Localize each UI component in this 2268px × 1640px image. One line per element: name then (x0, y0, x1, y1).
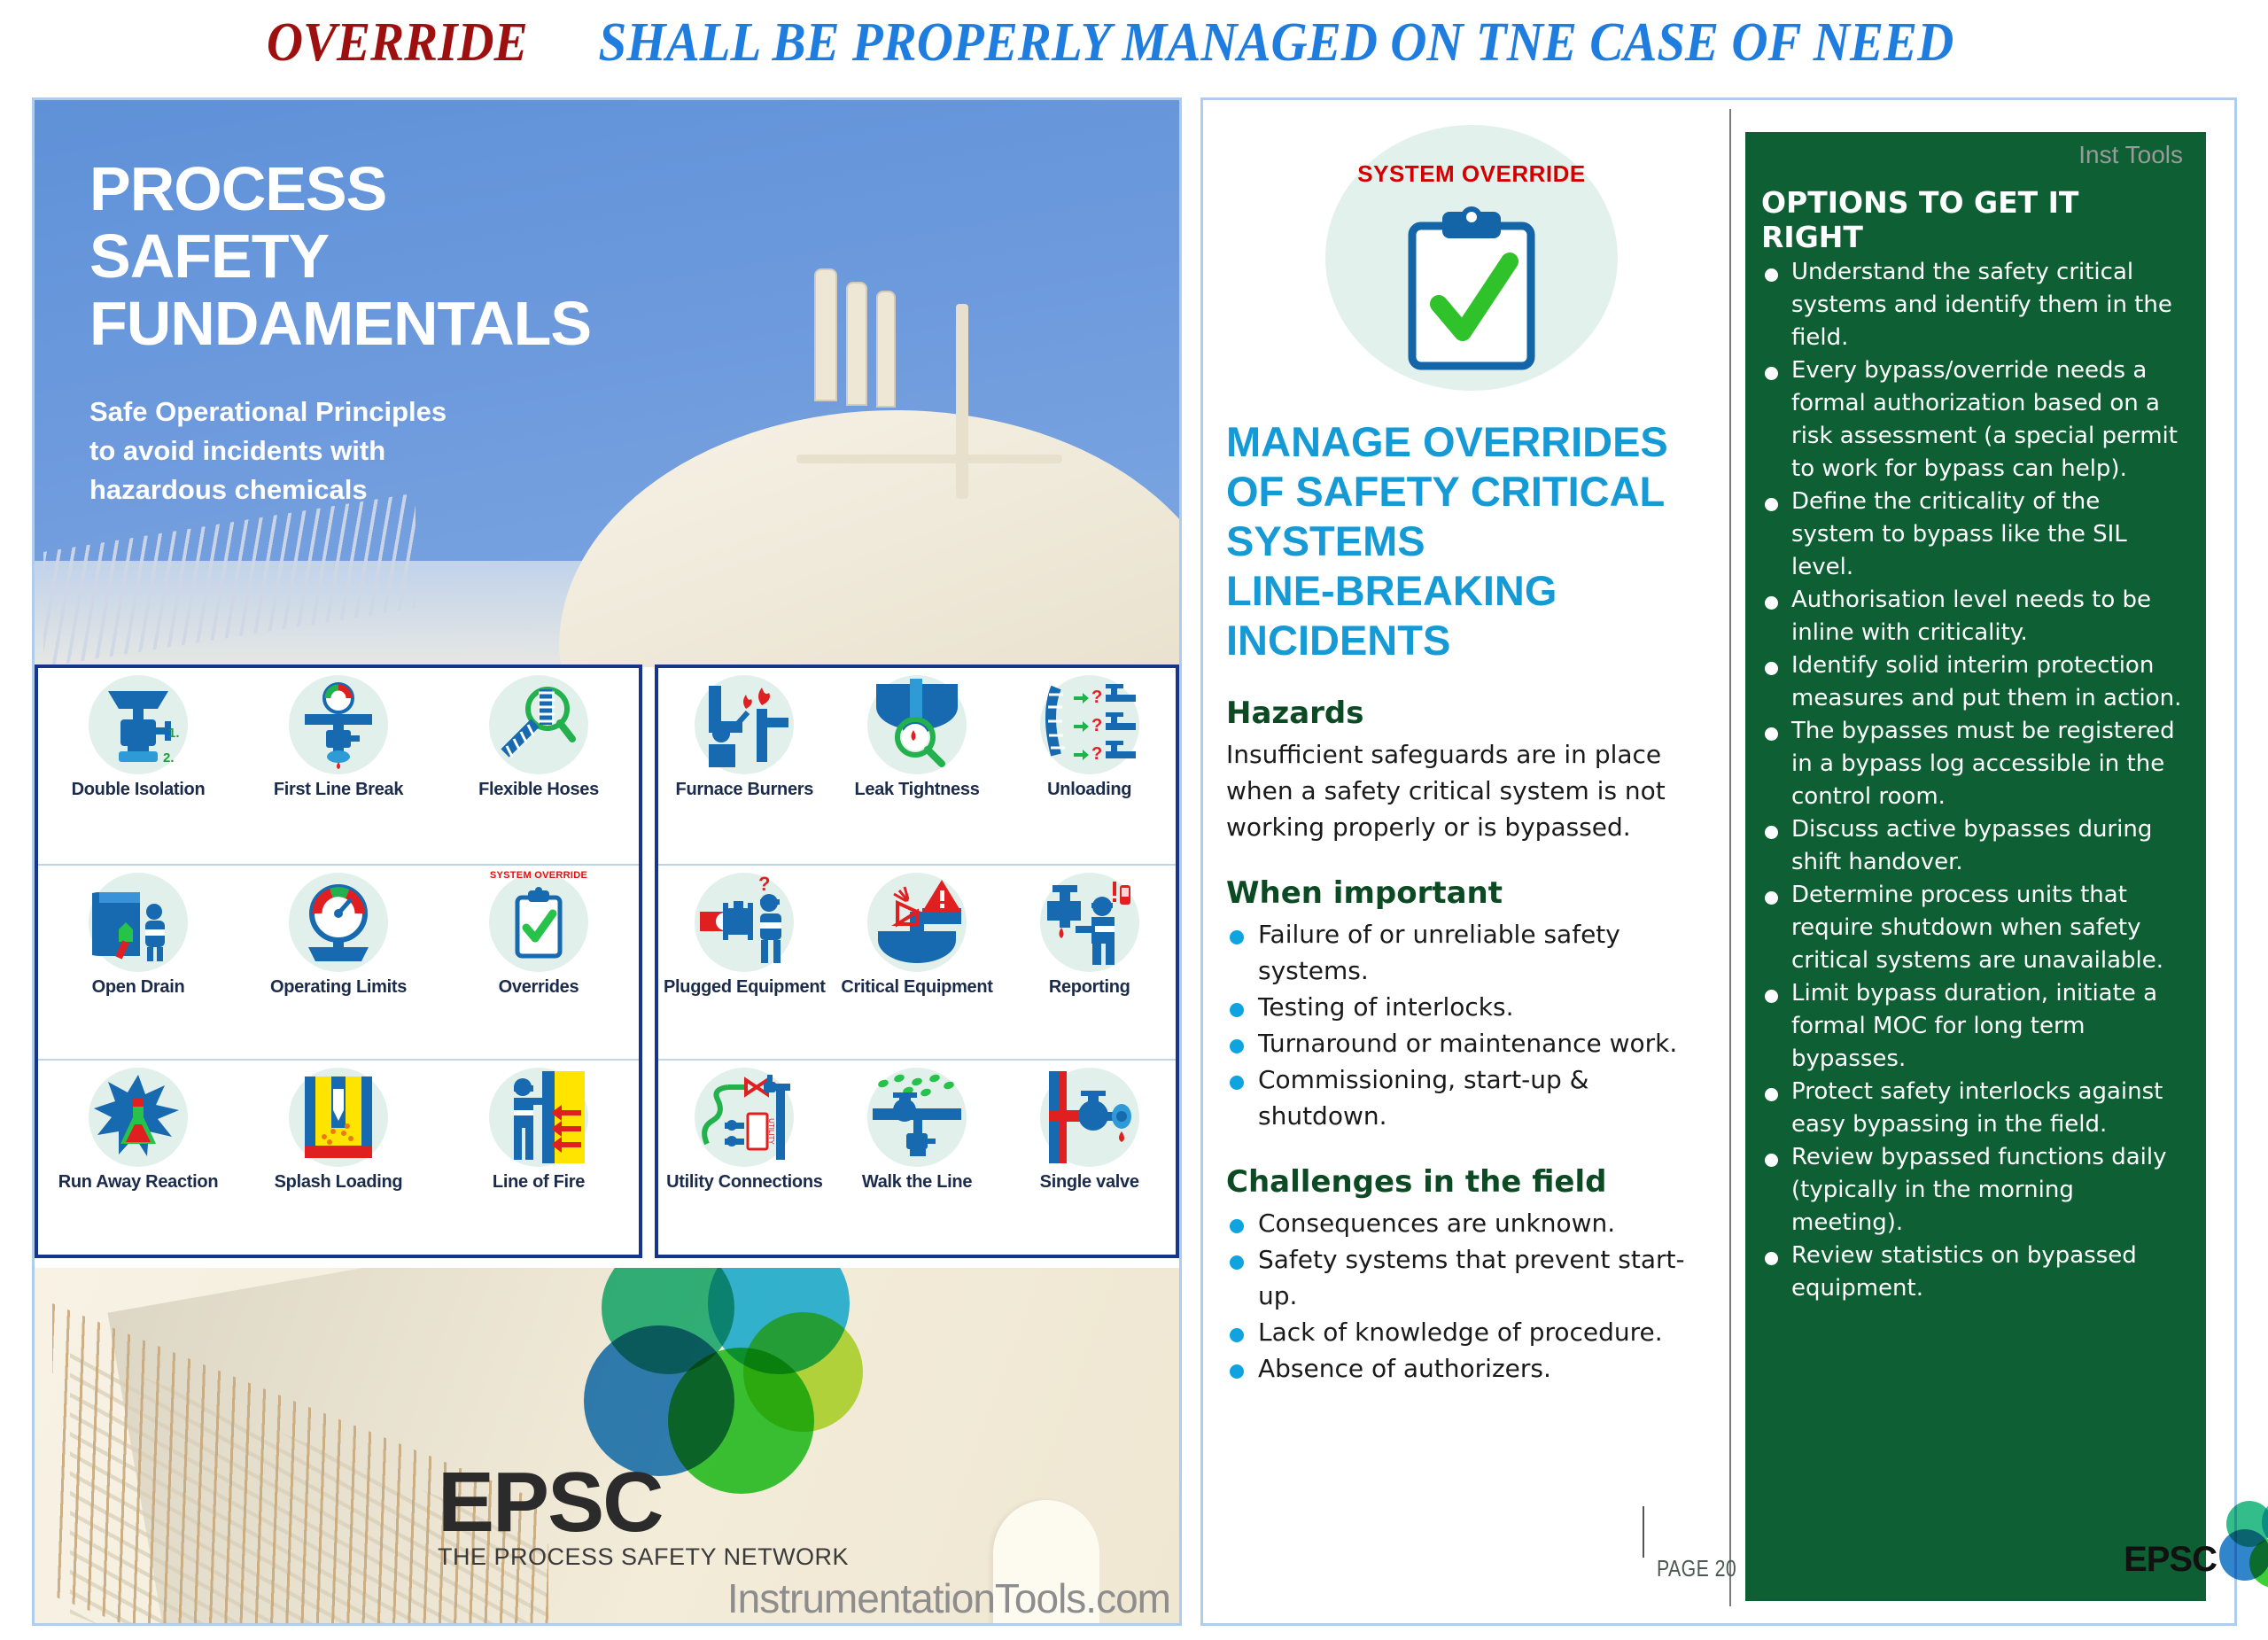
svg-text:?: ? (1091, 744, 1102, 764)
headline-line-5: INCIDENTS (1226, 616, 1717, 665)
epsc-footer-logo: EPSC (2124, 1540, 2217, 1580)
icon-grid-row: Furnace Burners Leak Tightness (658, 668, 1176, 864)
hero-sub-line-1: Safe Operational Principles (89, 393, 447, 431)
list-item: Identify solid interim protection measur… (1761, 649, 2183, 715)
list-item: Discuss active bypasses during shift han… (1761, 813, 2183, 879)
list-item: Authorisation level needs to be inline w… (1761, 584, 2183, 649)
icon-cell-first-line-break[interactable]: First Line Break (238, 668, 439, 864)
epsc-footer-wordmark: EPSC (2124, 1540, 2217, 1579)
icon-cell-utility-connections[interactable]: UTILITY Utility Connections (658, 1061, 831, 1255)
single-valve-icon (1040, 1068, 1139, 1167)
splash-loading-icon (289, 1068, 388, 1167)
icon-label: Flexible Hoses (478, 780, 599, 799)
icon-cell-double-isolation[interactable]: 1. 2. Double Isolation (38, 668, 238, 864)
icon-cell-runaway-reaction[interactable]: Run Away Reaction (38, 1061, 238, 1255)
icon-grid-row: 1. 2. Double Isolation (38, 668, 639, 864)
list-item: Commissioning, start-up & shutdown. (1226, 1061, 1717, 1134)
list-item: Safety systems that prevent start-up. (1226, 1241, 1717, 1314)
list-item: Protect safety interlocks against easy b… (1761, 1076, 2183, 1141)
icon-cell-flexible-hoses[interactable]: Flexible Hoses (439, 668, 639, 864)
options-heading: OPTIONS TO GET IT RIGHT (1761, 185, 2183, 254)
icon-label: Line of Fire (493, 1172, 585, 1192)
svg-text:?: ? (1091, 688, 1102, 707)
unloading-icon: ? ? ? (1040, 675, 1139, 774)
options-panel: Inst Tools OPTIONS TO GET IT RIGHT Under… (1745, 132, 2206, 1601)
title-blue-part: SHALL BE PROPERLY MANAGED ON TNE CASE OF… (598, 7, 1953, 78)
challenges-list: Consequences are unknown. Safety systems… (1226, 1205, 1717, 1387)
hero-sub-line-3: hazardous chemicals (89, 470, 447, 509)
headline-line-3: SYSTEMS (1226, 517, 1717, 566)
headline-line-2: OF SAFETY CRITICAL (1226, 467, 1717, 517)
list-item: Review statistics on bypassed equipment. (1761, 1240, 2183, 1305)
challenges-heading: Challenges in the field (1226, 1164, 1717, 1200)
list-item: Define the criticality of the system to … (1761, 486, 2183, 584)
bottom-photo: EPSC THE PROCESS SAFETY NETWORK Instrume… (35, 1268, 1179, 1624)
list-item: Testing of interlocks. (1226, 989, 1717, 1025)
icon-label: Utility Connections (666, 1172, 823, 1192)
icon-label: Operating Limits (270, 977, 407, 997)
icon-cell-splash-loading[interactable]: Splash Loading (238, 1061, 439, 1255)
utility-connections-icon: UTILITY (695, 1068, 794, 1167)
list-item: Turnaround or maintenance work. (1226, 1025, 1717, 1061)
svg-text:?: ? (1091, 716, 1102, 735)
icon-label: Furnace Burners (676, 780, 814, 799)
epsc-logo-lockup: EPSC THE PROCESS SAFETY NETWORK (438, 1462, 849, 1571)
hero-column-3 (876, 291, 896, 408)
icon-grid-left: 1. 2. Double Isolation (35, 665, 642, 1258)
reporting-icon (1040, 873, 1139, 972)
inst-tools-watermark: Inst Tools (2078, 141, 2183, 169)
hero-photo: PROCESS SAFETY FUNDAMENTALS Safe Operati… (35, 100, 1179, 667)
plugged-equipment-icon: ? (695, 873, 794, 972)
icon-label: Walk the Line (862, 1172, 972, 1192)
icon-label: Plugged Equipment (664, 977, 826, 997)
double-isolation-icon: 1. 2. (89, 675, 188, 774)
badge-label: SYSTEM OVERRIDE (1325, 160, 1618, 188)
icon-grid-row: Run Away Reaction (38, 1059, 639, 1255)
svg-text:UTILITY: UTILITY (767, 1118, 775, 1145)
epsc-wordmark: EPSC (438, 1462, 849, 1543)
icon-cell-leak-tightness[interactable]: Leak Tightness (831, 668, 1004, 864)
hero-pipe-1 (956, 304, 968, 499)
line-of-fire-icon (489, 1068, 588, 1167)
list-item: The bypasses must be registered in a byp… (1761, 715, 2183, 813)
icon-label: Double Isolation (72, 780, 206, 799)
icon-label: Leak Tightness (854, 780, 979, 799)
when-important-list: Failure of or unreliable safety systems.… (1226, 916, 1717, 1134)
walk-the-line-icon (867, 1068, 967, 1167)
list-item: Limit bypass duration, initiate a formal… (1761, 977, 2183, 1076)
icon-cell-line-of-fire[interactable]: Line of Fire (439, 1061, 639, 1255)
icon-grid-row: UTILITY Utility Connections (658, 1059, 1176, 1255)
icon-label: Single valve (1040, 1172, 1139, 1192)
options-list: Understand the safety critical systems a… (1761, 256, 2183, 1305)
title-red-part: OVERRIDE (267, 7, 528, 78)
right-content-panel: SYSTEM OVERRIDE MANAGE OVERRIDES OF SAFE… (1200, 97, 2237, 1626)
list-item: Determine process units that require shu… (1761, 879, 2183, 977)
epsc-footer-venn (2219, 1497, 2268, 1595)
icon-cell-critical-equipment[interactable]: Critical Equipment (831, 866, 1004, 1060)
hero-heading-line-2: SAFETY (89, 222, 591, 290)
open-drain-icon (89, 873, 188, 972)
main-headline: MANAGE OVERRIDES OF SAFETY CRITICAL SYST… (1226, 417, 1717, 665)
svg-text:1.: 1. (168, 726, 180, 741)
hero-heading-line-3: FUNDAMENTALS (89, 290, 591, 357)
hazards-heading: Hazards (1226, 696, 1717, 731)
hero-subheading: Safe Operational Principles to avoid inc… (89, 393, 447, 509)
clipboard-check-icon (1396, 206, 1547, 379)
svg-text:2.: 2. (163, 750, 175, 766)
icon-cell-operating-limits[interactable]: Operating Limits (238, 866, 439, 1060)
icon-cell-single-valve[interactable]: Single valve (1003, 1061, 1176, 1255)
icon-cell-overrides[interactable]: SYSTEM OVERRIDE Overrides (439, 866, 639, 1060)
critical-equipment-icon (867, 873, 967, 972)
icon-cell-open-drain[interactable]: Open Drain (38, 866, 238, 1060)
icon-grid-row: Open Drain Operating Limits (38, 864, 639, 1060)
icon-label: First Line Break (274, 780, 403, 799)
headline-line-4: LINE-BREAKING (1226, 566, 1717, 616)
page-number: PAGE 20 (1657, 1555, 1736, 1582)
hazards-text: Insufficient safeguards are in place whe… (1226, 736, 1717, 845)
list-item: Lack of knowledge of procedure. (1226, 1314, 1717, 1350)
hero-heading: PROCESS SAFETY FUNDAMENTALS (89, 155, 591, 357)
icon-label: Run Away Reaction (58, 1172, 219, 1192)
icon-label: Open Drain (92, 977, 185, 997)
svg-text:?: ? (758, 876, 770, 895)
hero-storage-tank (559, 410, 1179, 667)
icon-cell-furnace-burners[interactable]: Furnace Burners (658, 668, 831, 864)
flexible-hoses-icon (489, 675, 588, 774)
furnace-burners-icon (695, 675, 794, 774)
instrumentationtools-watermark: InstrumentationTools.com (727, 1574, 1170, 1622)
list-item: Absence of authorizers. (1226, 1350, 1717, 1387)
icon-cell-unloading[interactable]: ? ? ? Unloading (1003, 668, 1176, 864)
hero-pipe-2 (796, 455, 1062, 463)
icon-grid-row: ? Plugged Equipment (658, 864, 1176, 1060)
system-override-badge: SYSTEM OVERRIDE (490, 870, 587, 881)
icon-cell-walk-the-line[interactable]: Walk the Line (831, 1061, 1004, 1255)
icon-grid-right: Furnace Burners Leak Tightness (655, 665, 1179, 1258)
icon-cell-reporting[interactable]: Reporting (1003, 866, 1176, 1060)
hero-heading-line-1: PROCESS (89, 155, 591, 222)
icon-label: Unloading (1047, 780, 1131, 799)
headline-line-1: MANAGE OVERRIDES (1226, 417, 1717, 467)
icon-label: Reporting (1049, 977, 1130, 997)
hero-column-1 (814, 268, 837, 401)
list-item: Every bypass/override needs a formal aut… (1761, 354, 2183, 486)
page-title: OVERRIDE SHALL BE PROPERLY MANAGED ON TN… (0, 7, 2268, 78)
when-important-heading: When important (1226, 875, 1717, 911)
leak-tightness-icon (867, 675, 967, 774)
icon-label: Splash Loading (275, 1172, 403, 1192)
hero-sub-line-2: to avoid incidents with (89, 431, 447, 470)
list-item: Consequences are unknown. (1226, 1205, 1717, 1241)
footer-divider (1643, 1506, 1644, 1558)
left-poster-panel: PROCESS SAFETY FUNDAMENTALS Safe Operati… (32, 97, 1182, 1626)
first-line-break-icon (289, 675, 388, 774)
list-item: Review bypassed functions daily (typical… (1761, 1141, 2183, 1240)
runaway-reaction-icon (89, 1068, 188, 1167)
overrides-clipboard-icon: SYSTEM OVERRIDE (489, 873, 588, 972)
hero-column-2 (846, 282, 867, 406)
list-item: Understand the safety critical systems a… (1761, 256, 2183, 354)
center-column: SYSTEM OVERRIDE MANAGE OVERRIDES OF SAFE… (1226, 109, 1731, 1606)
icon-label: Overrides (499, 977, 579, 997)
epsc-tagline: THE PROCESS SAFETY NETWORK (438, 1543, 849, 1571)
system-override-badge-circle: SYSTEM OVERRIDE (1325, 125, 1618, 391)
operating-limits-icon (289, 873, 388, 972)
icon-cell-plugged-equipment[interactable]: ? Plugged Equipment (658, 866, 831, 1060)
list-item: Failure of or unreliable safety systems. (1226, 916, 1717, 989)
icon-label: Critical Equipment (841, 977, 992, 997)
